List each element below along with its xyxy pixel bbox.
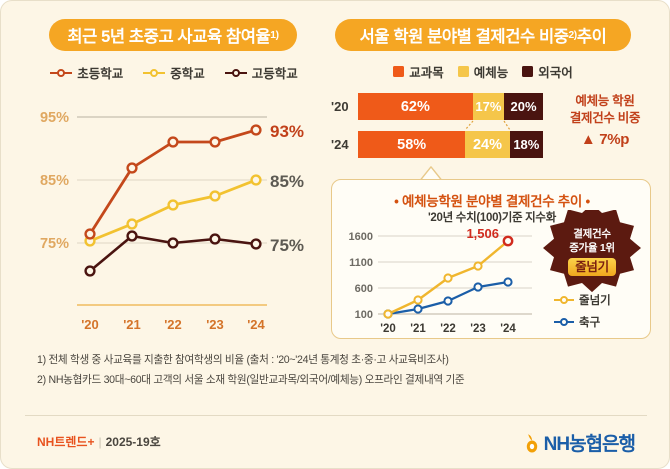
left-chart-svg: 95% 85% 75% '20 '21 '22 '23 '24 <box>27 93 319 341</box>
footer-issue: 2025-19호 <box>106 435 161 449</box>
bar-row-2020: '20 62% 17% 20% <box>331 93 543 120</box>
square-swatch-icon <box>522 66 533 77</box>
inner-legend-label-jumprope: 줄넘기 <box>579 292 611 308</box>
footnote-2: 2) NH농협카드 30대~60대 고객의 서울 소재 학원(일반교과목/외국어… <box>37 371 637 391</box>
legend-item-middle: 중학교 <box>143 63 205 82</box>
right-panel-title: 서울 학원 분야별 결제건수 비중 <box>360 23 569 47</box>
bar-track-2020: 62% 17% 20% <box>358 93 543 120</box>
left-panel-title: 최근 5년 초중고 사교육 참여율 <box>67 23 270 47</box>
badge-line-2: 증가율 1위 <box>569 242 615 256</box>
y-tick-85: 85% <box>40 173 69 189</box>
left-chart-legend: 초등학교 중학교 고등학교 <box>41 63 307 82</box>
nh-bank-logo-text: NH농협은행 <box>544 429 635 456</box>
arts-trend-inner-panel: • 예체능학원 분야별 결제건수 추이 • '20년 수치(100)기준 지수화… <box>331 179 651 339</box>
bar-segment-foreign-2020: 20% <box>504 93 543 120</box>
inner-x-tick-20: '20 <box>380 323 396 335</box>
y-tick-95: 95% <box>40 110 69 126</box>
footnotes: 1) 전체 학생 중 사교육를 지출한 참여학생의 비율 (출처 : '20~'… <box>37 351 637 390</box>
end-label-high: 75% <box>270 236 304 255</box>
inner-peak-label: 1,506 <box>466 226 499 241</box>
bar-year-2020: '20 <box>331 93 357 120</box>
infographic-card: 최근 5년 초중고 사교육 참여율1) 초등학교 중학교 고등학교 95% 85… <box>0 0 670 469</box>
inner-y-tick-1100: 1100 <box>349 257 373 269</box>
inner-chart-legend: 줄넘기 축구 <box>554 292 650 336</box>
inner-y-tick-600: 600 <box>355 283 373 295</box>
badge-line-1: 결제건수 <box>573 228 610 242</box>
inner-panel-title: 예체능학원 분야별 결제건수 추이 <box>402 194 582 209</box>
inner-y-tick-100: 100 <box>355 309 373 321</box>
end-label-middle: 85% <box>270 172 304 191</box>
legend-item-high: 고등학교 <box>225 63 298 82</box>
right-panel-title-tail: 추이 <box>577 23 607 47</box>
x-tick-22: '22 <box>164 317 182 332</box>
right-panel-title-pill: 서울 학원 분야별 결제건수 비중2) 추이 <box>335 19 631 51</box>
participation-rate-line-chart: 95% 85% 75% '20 '21 '22 '23 '24 <box>27 93 319 341</box>
inner-x-tick-23: '23 <box>470 323 486 335</box>
callout-delta: ▲ 7%p <box>549 130 661 151</box>
legend-item-arts-sports: 예체능 <box>458 62 509 81</box>
nh-bank-logo: NH농협은행 <box>524 429 635 456</box>
x-tick-20: '20 <box>81 317 99 332</box>
series-markers-middle <box>86 176 261 246</box>
footnote-1: 1) 전체 학생 중 사교육를 지출한 참여학생의 비율 (출처 : '20~'… <box>37 351 637 371</box>
legend-item-subjects: 교과목 <box>393 62 444 81</box>
bar-segment-subjects-2020: 62% <box>358 93 473 120</box>
inner-legend-item-jumprope: 줄넘기 <box>554 292 650 308</box>
legend-label-arts-sports: 예체능 <box>474 62 509 81</box>
square-swatch-icon <box>458 66 469 77</box>
badge-highlight: 줄넘기 <box>568 258 616 276</box>
inner-x-tick-22: '22 <box>440 323 456 335</box>
legend-label-middle: 중학교 <box>170 63 205 82</box>
bar-chart-legend: 교과목 예체능 외국어 <box>357 62 609 81</box>
legend-label-high: 고등학교 <box>252 63 298 82</box>
inner-title-bullet-right: • <box>585 194 589 209</box>
inner-title-bullet-left: • <box>394 194 398 209</box>
inner-y-tick-1600: 1600 <box>349 231 373 243</box>
callout-line-2: 결제건수 비중 <box>549 110 661 127</box>
line-marker-icon <box>143 68 165 78</box>
right-panel-title-superscript: 2) <box>569 30 577 41</box>
line-marker-icon <box>50 68 72 78</box>
bar-segment-arts-2024: 24% <box>465 131 509 158</box>
series-markers-elementary <box>86 126 261 239</box>
legend-label-elementary: 초등학교 <box>77 63 123 82</box>
payment-share-stacked-bars: '20 62% 17% 20% '24 58% 24% 18% <box>331 93 543 165</box>
callout-line-1: 예체능 학원 <box>549 93 661 110</box>
inner-legend-item-soccer: 축구 <box>554 314 650 330</box>
bar-year-2024: '24 <box>331 131 357 158</box>
line-marker-icon <box>225 68 247 78</box>
arts-share-callout: 예체능 학원 결제건수 비중 ▲ 7%p <box>549 93 661 150</box>
x-tick-24: '24 <box>247 317 265 332</box>
bar-segment-subjects-2024: 58% <box>358 131 465 158</box>
bar-row-2024: '24 58% 24% 18% <box>331 131 543 158</box>
x-tick-23: '23 <box>206 317 224 332</box>
rank-badge-text: 결제건수 증가율 1위 줄넘기 <box>538 210 646 294</box>
inner-x-tick-21: '21 <box>410 323 426 335</box>
footer-brand: NH트렌드+ <box>37 435 94 449</box>
square-swatch-icon <box>393 66 404 77</box>
left-panel-title-pill: 최근 5년 초중고 사교육 참여율1) <box>49 19 297 51</box>
legend-item-foreign-language: 외국어 <box>522 62 573 81</box>
arts-index-line-chart: 1600 1100 600 100 '20 '21 '22 '23 '24 <box>336 224 548 336</box>
legend-label-subjects: 교과목 <box>409 62 444 81</box>
inner-panel-title-row: • 예체능학원 분야별 결제건수 추이 • <box>332 190 652 210</box>
bar-segment-arts-2020: 17% <box>473 93 504 120</box>
x-tick-21: '21 <box>123 317 141 332</box>
nh-sprout-icon <box>524 433 540 453</box>
bar-track-2024: 58% 24% 18% <box>358 131 543 158</box>
bar-segment-foreign-2024: 18% <box>510 131 543 158</box>
inner-legend-label-soccer: 축구 <box>579 314 600 330</box>
line-marker-icon <box>554 295 574 305</box>
line-marker-icon <box>554 317 574 327</box>
legend-item-elementary: 초등학교 <box>50 63 123 82</box>
footer-separator: | <box>98 435 101 449</box>
inner-x-tick-24: '24 <box>500 323 516 335</box>
y-tick-75: 75% <box>40 236 69 252</box>
footer-divider <box>25 415 647 416</box>
end-label-elementary: 93% <box>270 122 304 141</box>
left-panel-title-superscript: 1) <box>270 30 278 41</box>
footer-meta: NH트렌드+|2025-19호 <box>37 433 161 450</box>
inner-chart-svg: 1600 1100 600 100 '20 '21 '22 '23 '24 <box>336 224 548 336</box>
legend-label-foreign-language: 외국어 <box>538 62 573 81</box>
rank-badge: 결제건수 증가율 1위 줄넘기 <box>538 210 646 294</box>
